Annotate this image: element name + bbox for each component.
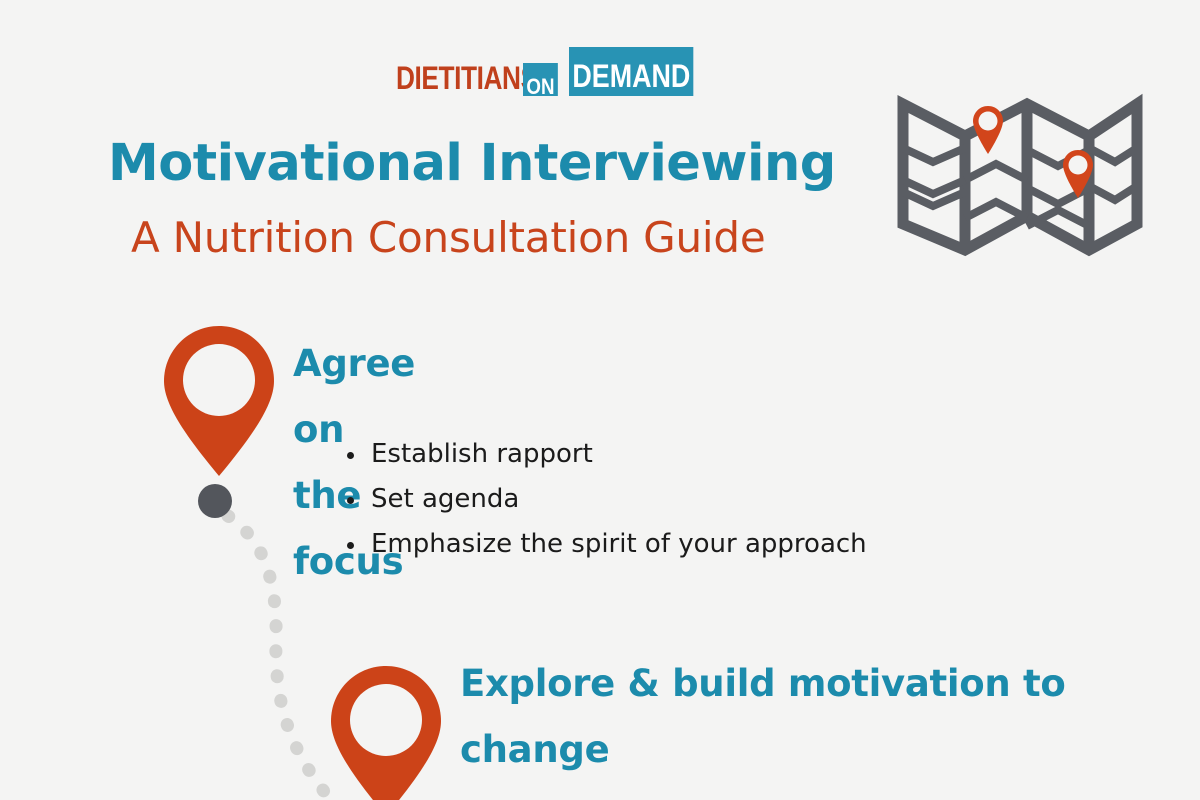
page-subtitle: A Nutrition Consultation Guide	[131, 212, 765, 264]
page-title: Motivational Interviewing	[108, 131, 836, 197]
step-1-route-dot	[198, 484, 232, 518]
map-pin-icon	[973, 106, 1003, 154]
list-item: Establish rapport	[371, 432, 867, 477]
list-item: Emphasize the spirit of your approach	[371, 522, 867, 567]
brand-word-on: on	[523, 63, 558, 96]
step-2-heading: Explore & build motivation to change	[460, 651, 1140, 783]
list-item: Set agenda	[371, 477, 867, 522]
step-1-map-pin-icon	[160, 322, 278, 487]
step-2-map-pin-icon	[327, 662, 445, 800]
infographic-canvas: Dietitians on Demand Motivational Interv…	[0, 0, 1200, 800]
brand-logo: Dietitians on Demand	[396, 38, 717, 96]
brand-word-dietitians: Dietitians	[396, 51, 538, 96]
folded-map-icon	[895, 88, 1145, 263]
step-1-bullet-list: Establish rapport Set agenda Emphasize t…	[335, 432, 867, 567]
brand-word-demand: Demand	[569, 47, 694, 96]
